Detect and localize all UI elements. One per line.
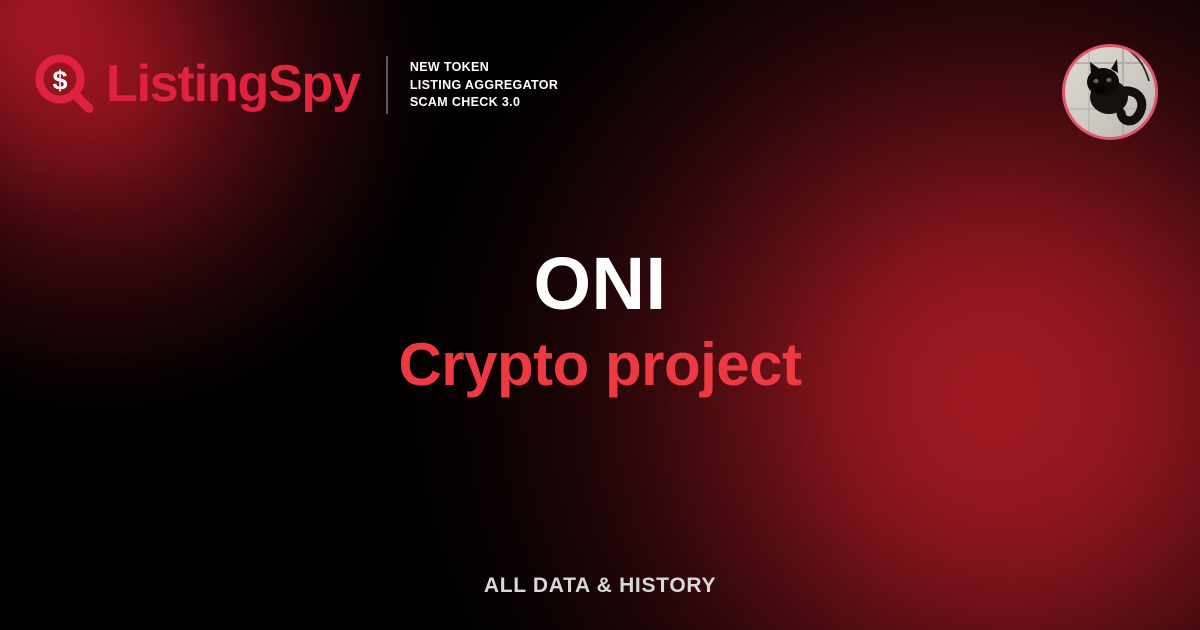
tagline-line-3: SCAM CHECK 3.0 <box>410 95 558 110</box>
tagline-line-2: LISTING AGGREGATOR <box>410 78 558 93</box>
footer-caption: ALL DATA & HISTORY <box>0 574 1200 598</box>
brand-wordmark: ListingSpy <box>106 58 360 110</box>
tagline-line-1: NEW TOKEN <box>410 60 558 75</box>
glow-right-edge <box>780 170 1200 630</box>
token-preview-card: $ ListingSpy NEW TOKEN LISTING AGGREGATO… <box>0 0 1200 630</box>
brand-header: $ ListingSpy NEW TOKEN LISTING AGGREGATO… <box>34 54 558 116</box>
brand-name-part-1: Listing <box>106 55 268 113</box>
token-avatar <box>1062 44 1158 140</box>
magnifier-dollar-icon: $ <box>34 54 96 116</box>
svg-text:$: $ <box>52 66 67 96</box>
token-title-block: ONI Crypto project <box>0 246 1200 396</box>
brand-name-part-2: Spy <box>268 55 360 113</box>
token-avatar-image <box>1065 47 1155 137</box>
brand-tagline: NEW TOKEN LISTING AGGREGATOR SCAM CHECK … <box>410 60 558 110</box>
footer-area: ALL DATA & HISTORY <box>0 574 1200 598</box>
header-divider <box>386 56 388 114</box>
token-subtitle: Crypto project <box>0 333 1200 396</box>
token-symbol: ONI <box>0 246 1200 321</box>
